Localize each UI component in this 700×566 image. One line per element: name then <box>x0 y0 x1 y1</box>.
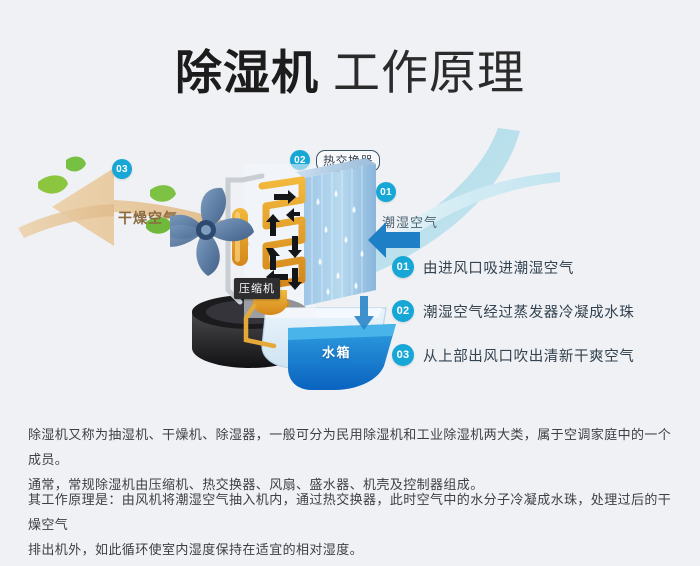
step-badge: 01 <box>392 256 414 278</box>
dehumidifier-cutaway-illustration <box>170 140 420 390</box>
label-water-tank: 水箱 <box>322 342 351 361</box>
page-title-light: 工作原理 <box>333 46 525 99</box>
step-text: 由进风口吸进潮湿空气 <box>423 257 574 278</box>
step-text: 潮湿空气经过蒸发器冷凝成水珠 <box>423 301 634 322</box>
page-title: 除湿机工作原理 <box>0 34 700 103</box>
step-badge: 02 <box>392 300 414 322</box>
page-title-bold: 除湿机 <box>175 46 319 99</box>
step-text: 从上部出风口吹出清新干爽空气 <box>423 345 634 366</box>
description-paragraph-2: 其工作原理是：由风机将潮湿空气抽入机内，通过热交换器，此时空气中的水分子冷凝成水… <box>28 487 676 562</box>
paragraph-line: 除湿机又称为抽湿机、干燥机、除湿器，一般可分为民用除湿机和工业除湿机两大类，属于… <box>28 422 676 472</box>
step-item-02: 02 潮湿空气经过蒸发器冷凝成水珠 <box>392 300 634 322</box>
label-compressor: 压缩机 <box>234 278 280 299</box>
badge-label: 03 <box>112 159 132 179</box>
step-badge: 03 <box>392 344 414 366</box>
step-item-01: 01 由进风口吸进潮湿空气 <box>392 256 634 278</box>
paragraph-line: 排出机外，如此循环使室内湿度保持在适宜的相对湿度。 <box>28 537 676 562</box>
page-root: 除湿机工作原理 01 潮湿空气 <box>0 0 700 566</box>
step-item-03: 03 从上部出风口吹出清新干爽空气 <box>392 344 634 366</box>
badge-03-dry-air: 03 <box>112 159 132 179</box>
paragraph-line: 其工作原理是：由风机将潮湿空气抽入机内，通过热交换器，此时空气中的水分子冷凝成水… <box>28 487 676 537</box>
description-paragraph-1: 除湿机又称为抽湿机、干燥机、除湿器，一般可分为民用除湿机和工业除湿机两大类，属于… <box>28 422 676 497</box>
steps-list: 01 由进风口吸进潮湿空气 02 潮湿空气经过蒸发器冷凝成水珠 03 从上部出风… <box>392 256 634 388</box>
label-dry-air: 干燥空气 <box>118 208 178 228</box>
